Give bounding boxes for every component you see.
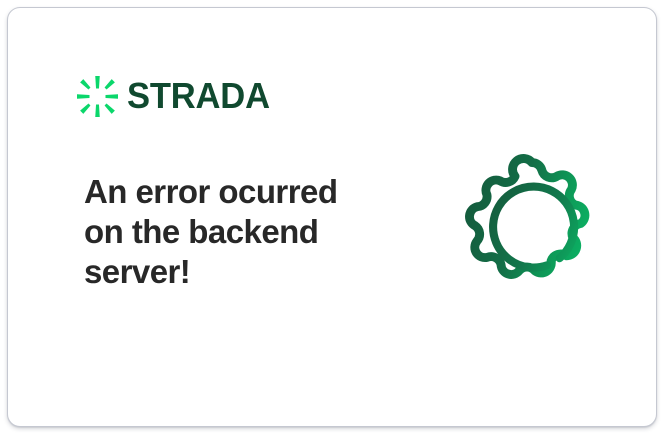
brand-logo: STRADA [77, 73, 276, 119]
error-page: STRADA An error ocurred on the backend s… [0, 0, 666, 436]
gear-illustration [451, 148, 613, 310]
gear-icon [451, 148, 613, 310]
error-headline: An error ocurred on the backend server! [84, 172, 384, 292]
brand-wordmark: STRADA [127, 78, 270, 114]
error-card: STRADA An error ocurred on the backend s… [7, 7, 657, 427]
strada-asterisk-icon [77, 76, 118, 117]
